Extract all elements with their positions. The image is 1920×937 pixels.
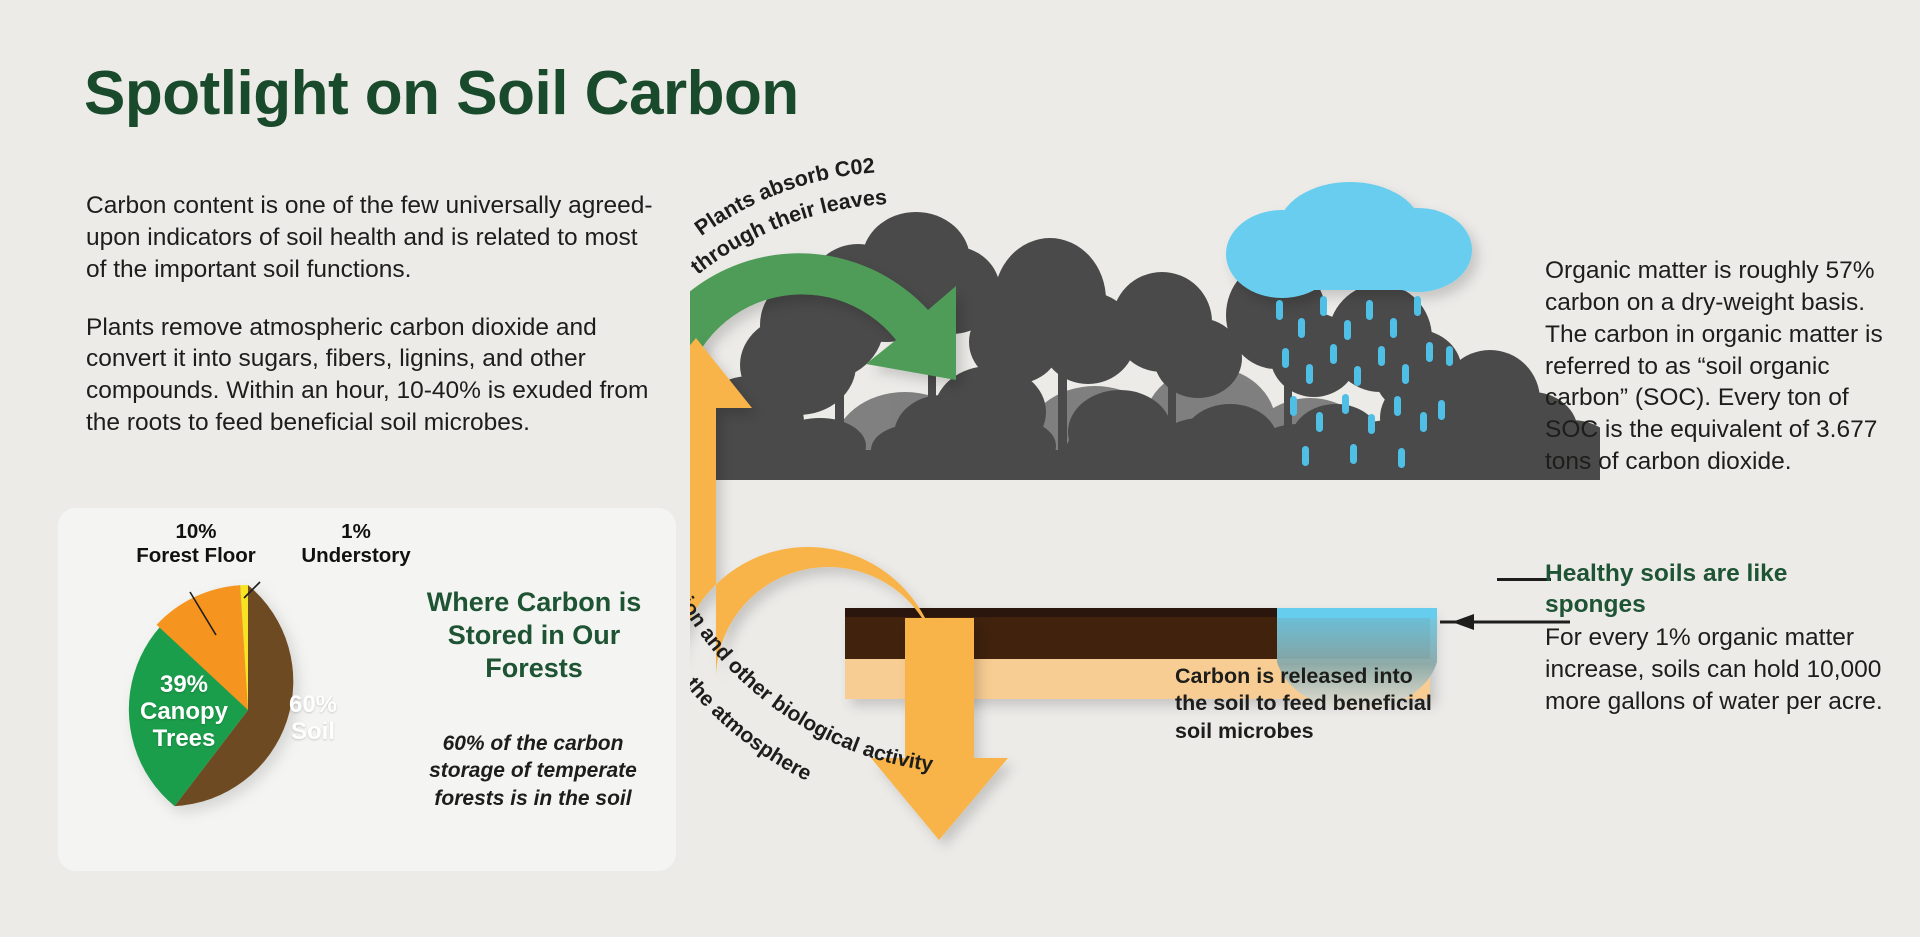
sponge-divider [1497,578,1551,581]
carbon-cycle-diagram: Plants absorb C02 through their leaves D… [690,150,1600,870]
sponge-block: Healthy soils are like sponges For every… [1545,559,1890,718]
label-carbon-released-to-soil: Carbon is released into the soil to feed… [1175,663,1445,745]
pie-chart-caption: 60% of the carbon storage of temperate f… [408,730,658,812]
pie-chart-title: Where Carbon is Stored in Our Forests [414,586,654,685]
organic-matter-text: Organic matter is roughly 57% carbon on … [1545,255,1885,478]
intro-paragraph-1: Carbon content is one of the few univers… [86,190,656,286]
carbon-cycle-illustration: Plants absorb C02 through their leaves D… [690,150,1600,870]
pie-chart: 60%Soil 39%CanopyTrees [118,580,378,840]
pie-label-understory: 1%Understory [280,520,432,568]
pie-label-forest-floor: 10%Forest Floor [120,520,272,568]
rain-cloud [1226,182,1472,298]
infographic-canvas: Spotlight on Soil Carbon Carbon content … [0,0,1920,937]
sponge-heading: Healthy soils are like sponges [1545,559,1890,620]
intro-text-block: Carbon content is one of the few univers… [86,190,656,465]
sponge-body-text: For every 1% organic matter increase, so… [1545,622,1890,718]
pie-value-soil: 60%Soil [268,692,358,746]
page-title: Spotlight on Soil Carbon [84,58,799,129]
pie-value-canopy: 39%CanopyTrees [136,672,232,753]
intro-paragraph-2: Plants remove atmospheric carbon dioxide… [86,312,656,439]
pie-chart-card: 10%Forest Floor 1%Understory 60%Soil 39%… [58,508,676,871]
